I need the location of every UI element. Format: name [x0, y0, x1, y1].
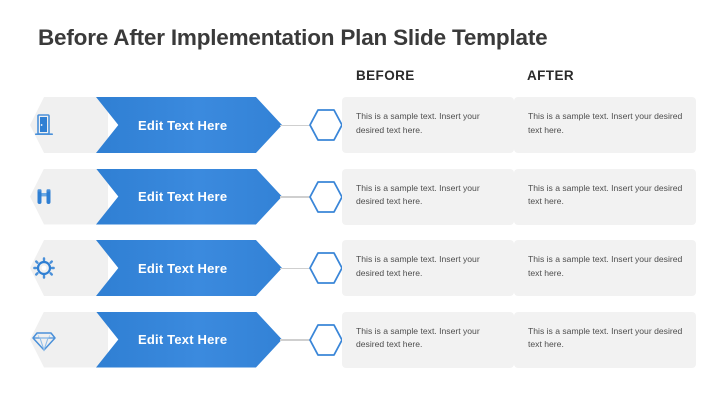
- chevron-label: Edit Text Here: [138, 189, 227, 204]
- after-card-text: This is a sample text. Insert your desir…: [528, 110, 684, 138]
- after-card-4[interactable]: This is a sample text. Insert your desir…: [514, 312, 696, 368]
- process-row: Edit Text Here This is a sample text. In…: [0, 97, 720, 153]
- gear-icon: [28, 252, 60, 284]
- before-card-4[interactable]: This is a sample text. Insert your desir…: [342, 312, 514, 368]
- chevron-step-3[interactable]: Edit Text Here: [96, 240, 282, 296]
- door-icon: [28, 109, 60, 141]
- rows-container: Edit Text Here This is a sample text. In…: [0, 0, 720, 404]
- chevron-step-2[interactable]: Edit Text Here: [96, 169, 282, 225]
- hexagon-marker[interactable]: [308, 323, 344, 357]
- diamond-icon: [28, 324, 60, 356]
- after-card-text: This is a sample text. Insert your desir…: [528, 253, 684, 281]
- process-row: Edit Text Here This is a sample text. In…: [0, 240, 720, 296]
- before-card-text: This is a sample text. Insert your desir…: [356, 182, 502, 210]
- after-card-3[interactable]: This is a sample text. Insert your desir…: [514, 240, 696, 296]
- chevron-label: Edit Text Here: [138, 261, 227, 276]
- connector-line: [280, 196, 310, 198]
- chevron-step-4[interactable]: Edit Text Here: [96, 312, 282, 368]
- before-card-1[interactable]: This is a sample text. Insert your desir…: [342, 97, 514, 153]
- after-card-2[interactable]: This is a sample text. Insert your desir…: [514, 169, 696, 225]
- chevron-step-1[interactable]: Edit Text Here: [96, 97, 282, 153]
- after-card-text: This is a sample text. Insert your desir…: [528, 325, 684, 353]
- process-row: Edit Text Here This is a sample text. In…: [0, 312, 720, 368]
- chevron-label: Edit Text Here: [138, 332, 227, 347]
- hexagon-marker[interactable]: [308, 251, 344, 285]
- connector-line: [280, 125, 310, 127]
- hexagon-marker[interactable]: [308, 180, 344, 214]
- slide-canvas: Before After Implementation Plan Slide T…: [0, 0, 720, 404]
- process-row: Edit Text Here This is a sample text. In…: [0, 169, 720, 225]
- before-card-text: This is a sample text. Insert your desir…: [356, 110, 502, 138]
- chevron-label: Edit Text Here: [138, 118, 227, 133]
- before-card-3[interactable]: This is a sample text. Insert your desir…: [342, 240, 514, 296]
- after-card-text: This is a sample text. Insert your desir…: [528, 182, 684, 210]
- after-card-1[interactable]: This is a sample text. Insert your desir…: [514, 97, 696, 153]
- connector-line: [280, 268, 310, 270]
- before-card-2[interactable]: This is a sample text. Insert your desir…: [342, 169, 514, 225]
- binoculars-icon: [28, 181, 60, 213]
- before-card-text: This is a sample text. Insert your desir…: [356, 325, 502, 353]
- hexagon-marker[interactable]: [308, 108, 344, 142]
- before-card-text: This is a sample text. Insert your desir…: [356, 253, 502, 281]
- connector-line: [280, 339, 310, 341]
